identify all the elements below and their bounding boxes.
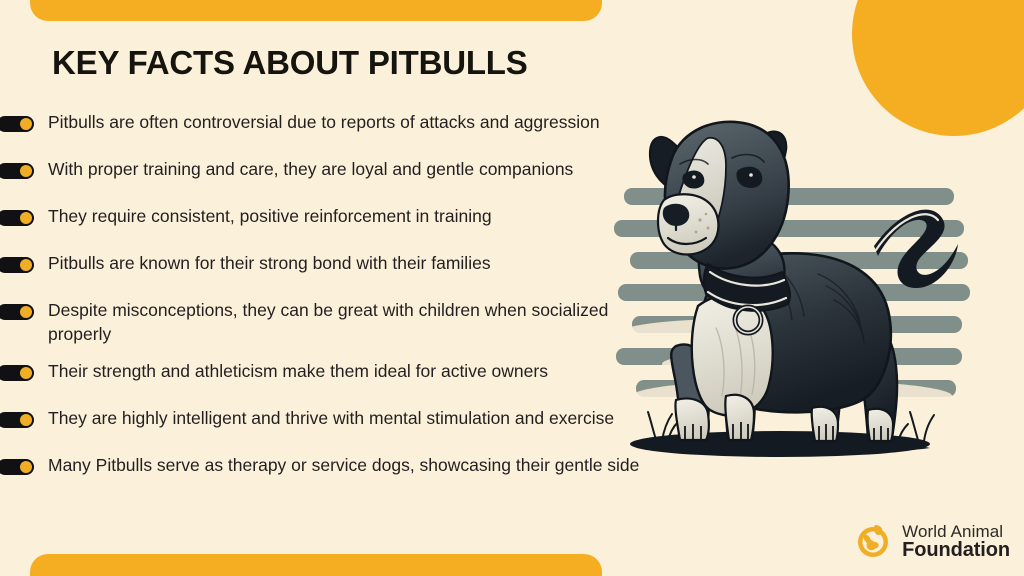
world-animal-foundation-logo: World Animal Foundation bbox=[853, 522, 1010, 562]
decorative-bar-top bbox=[30, 0, 602, 21]
world-animal-foundation-mark-icon bbox=[853, 522, 893, 562]
bullet-marker-icon bbox=[0, 163, 34, 179]
list-item: They require consistent, positive reinfo… bbox=[0, 204, 660, 238]
bullet-marker-icon bbox=[0, 210, 34, 226]
list-item-label: With proper training and care, they are … bbox=[34, 157, 660, 181]
list-item: Many Pitbulls serve as therapy or servic… bbox=[0, 453, 660, 487]
list-item-label: Many Pitbulls serve as therapy or servic… bbox=[34, 453, 660, 477]
bullet-marker-icon bbox=[0, 116, 34, 132]
list-item: With proper training and care, they are … bbox=[0, 157, 660, 191]
bullet-marker-icon bbox=[0, 304, 34, 320]
page-title: KEY FACTS ABOUT PITBULLS bbox=[52, 44, 528, 82]
list-item: Pitbulls are often controversial due to … bbox=[0, 110, 660, 144]
logo-wordmark: World Animal Foundation bbox=[902, 523, 1010, 561]
pitbull-dog-illustration bbox=[612, 96, 1024, 496]
list-item-label: They require consistent, positive reinfo… bbox=[34, 204, 660, 228]
bullet-marker-icon bbox=[0, 257, 34, 273]
bullet-marker-icon bbox=[0, 365, 34, 381]
list-item-label: Despite misconceptions, they can be grea… bbox=[34, 298, 660, 346]
list-item-label: Pitbulls are often controversial due to … bbox=[34, 110, 660, 134]
infographic-poster: KEY FACTS ABOUT PITBULLS Pitbulls are of… bbox=[0, 0, 1024, 576]
list-item: Pitbulls are known for their strong bond… bbox=[0, 251, 660, 285]
logo-line-1: World Animal bbox=[902, 523, 1010, 541]
list-item: Despite misconceptions, they can be grea… bbox=[0, 298, 660, 346]
decorative-bar-bottom bbox=[30, 554, 602, 576]
list-item-label: Pitbulls are known for their strong bond… bbox=[34, 251, 660, 275]
list-item: They are highly intelligent and thrive w… bbox=[0, 406, 660, 440]
bullet-marker-icon bbox=[0, 459, 34, 475]
bullet-marker-icon bbox=[0, 412, 34, 428]
list-item-label: Their strength and athleticism make them… bbox=[34, 359, 660, 383]
facts-list: Pitbulls are often controversial due to … bbox=[0, 110, 660, 500]
list-item: Their strength and athleticism make them… bbox=[0, 359, 660, 393]
logo-line-2: Foundation bbox=[902, 540, 1010, 561]
list-item-label: They are highly intelligent and thrive w… bbox=[34, 406, 660, 430]
